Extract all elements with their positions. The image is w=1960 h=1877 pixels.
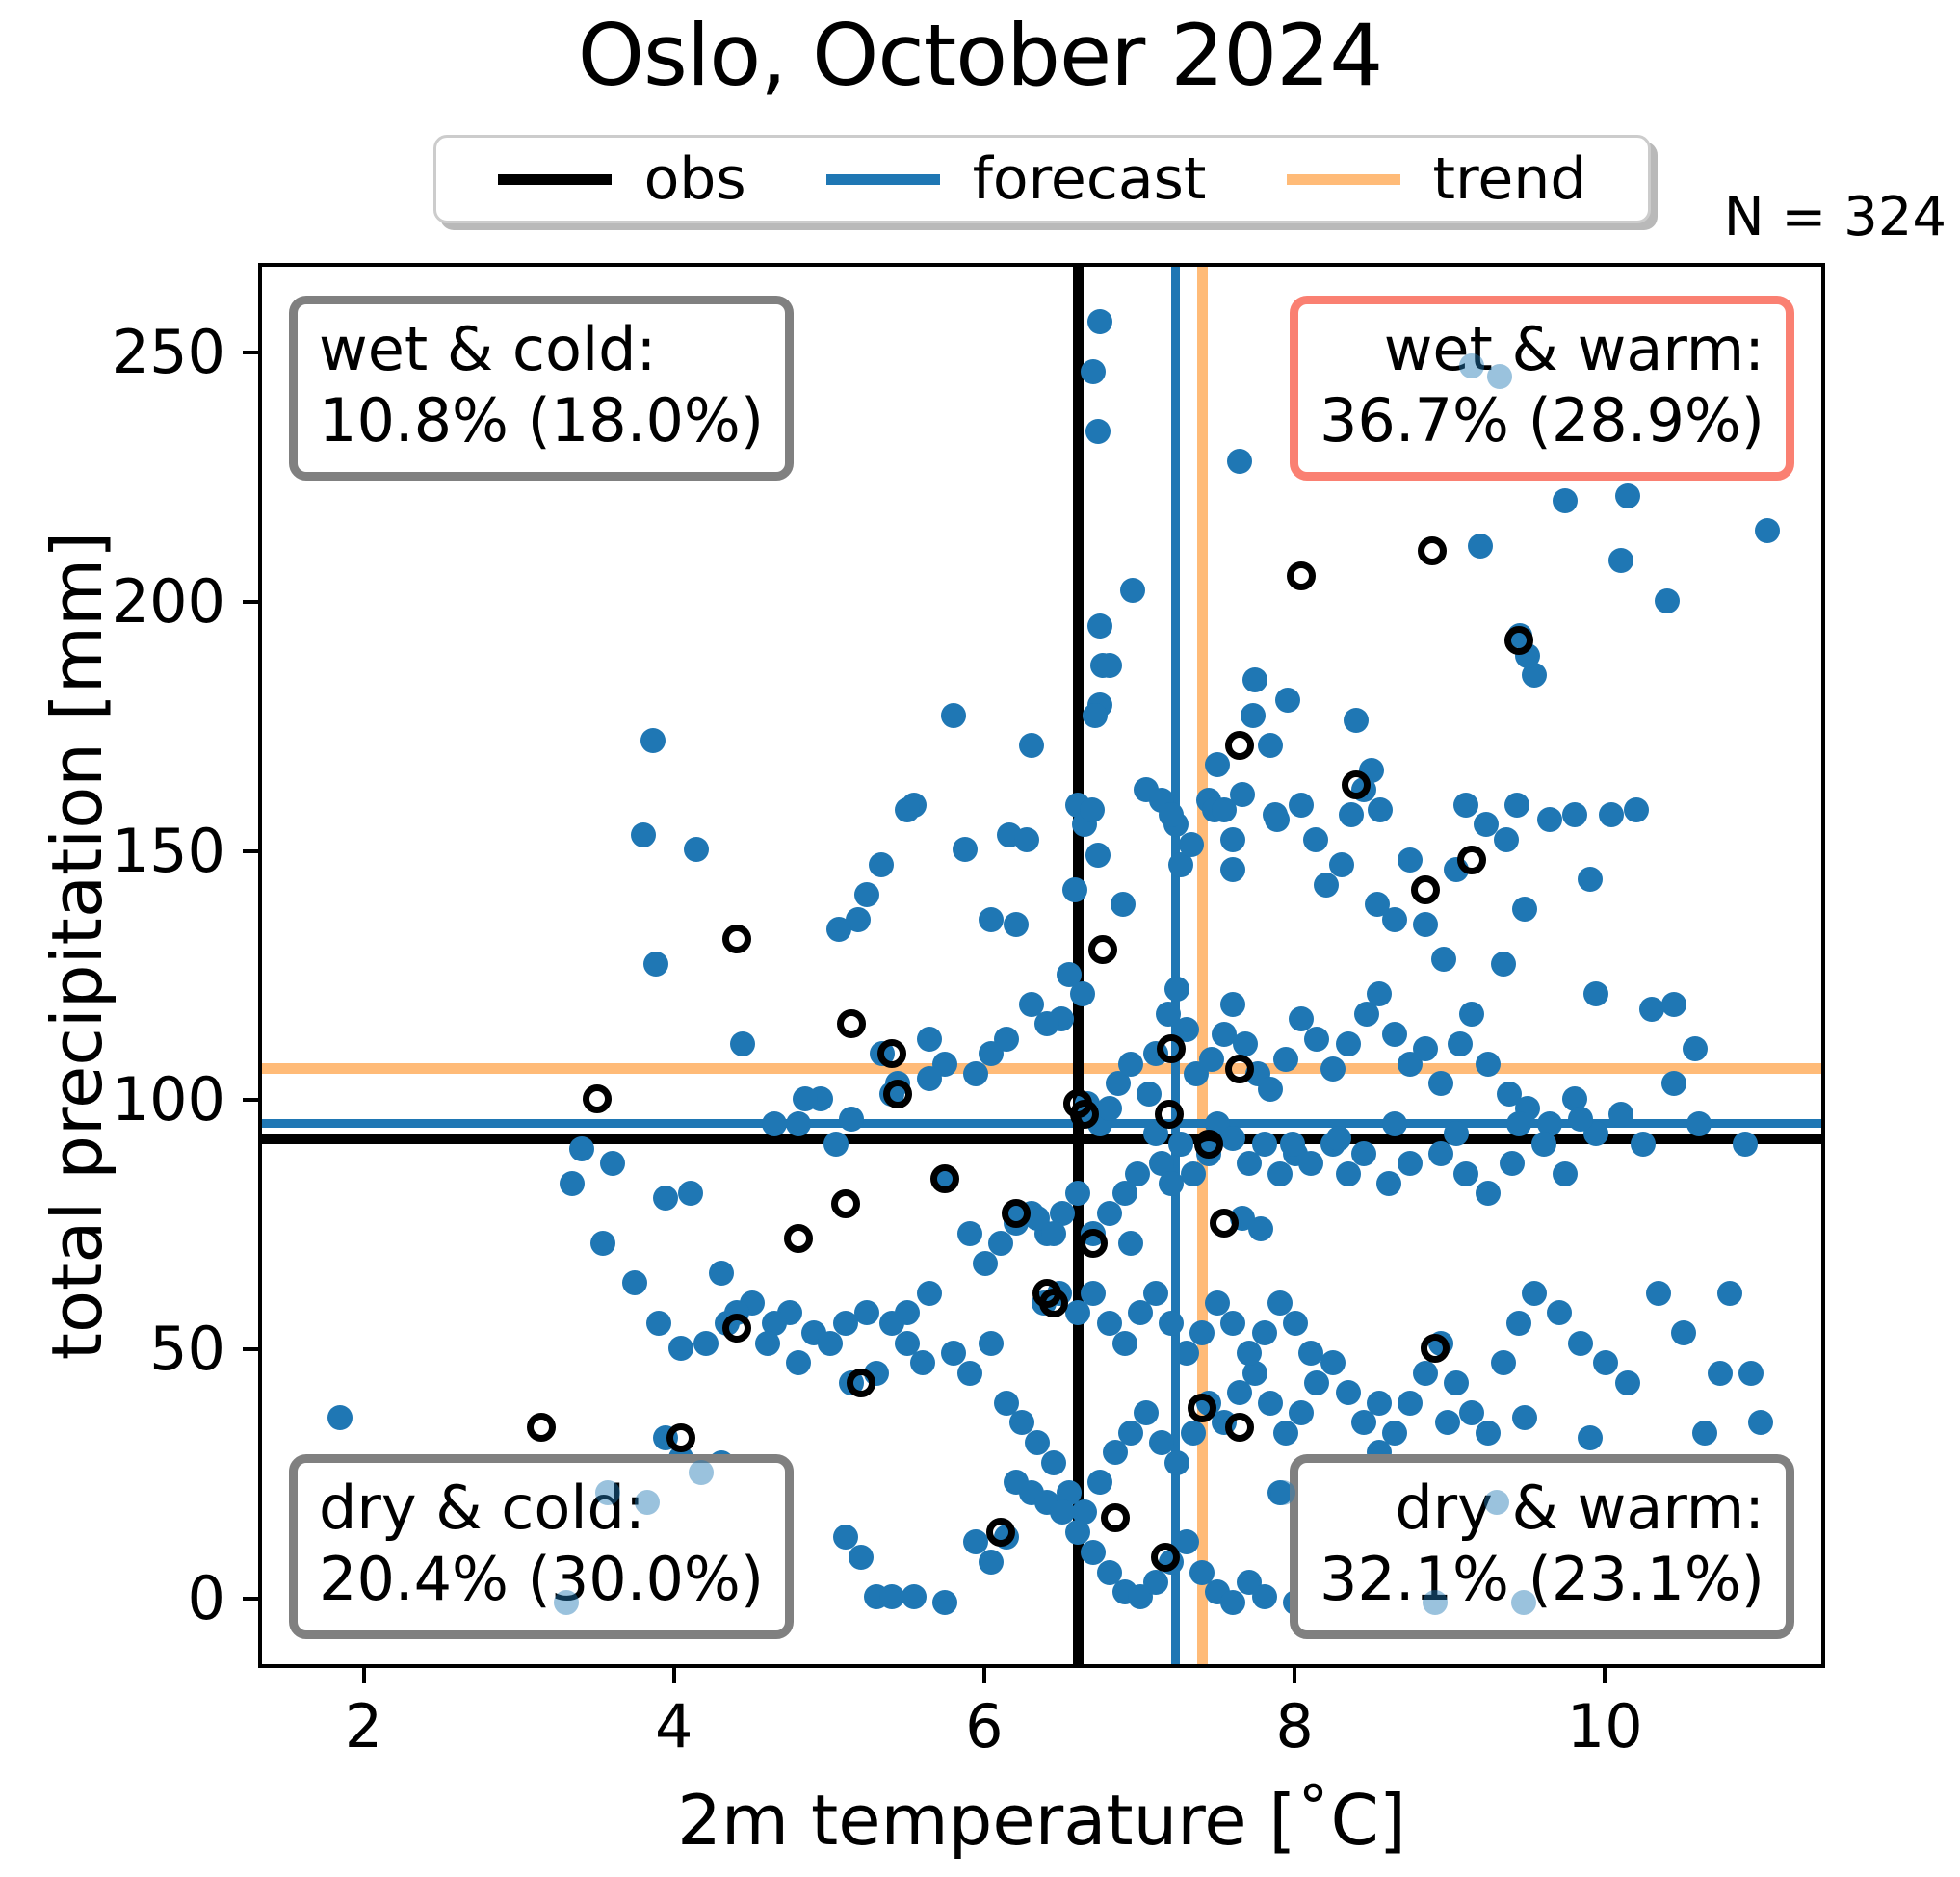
scatter-point-forecast xyxy=(1179,832,1204,857)
scatter-point-overlay xyxy=(689,1460,714,1485)
scatter-point-forecast xyxy=(1164,977,1189,1002)
scatter-point-forecast xyxy=(1267,1161,1293,1186)
annotation-wet-warm-value: 36.7% (28.9%) xyxy=(1320,385,1764,456)
x-tick-mark xyxy=(362,1668,366,1683)
scatter-point-forecast xyxy=(1085,843,1111,868)
annotation-dry-cold: dry & cold: 20.4% (30.0%) xyxy=(289,1454,794,1639)
scatter-point-forecast xyxy=(1159,1311,1184,1336)
scatter-point-forecast xyxy=(1512,897,1537,922)
scatter-point-forecast xyxy=(1661,1071,1686,1096)
scatter-point-obs xyxy=(883,1080,912,1108)
scatter-point-forecast xyxy=(1081,359,1106,384)
scatter-point-overlay xyxy=(1423,1590,1448,1615)
x-tick-label: 8 xyxy=(1275,1693,1313,1760)
scatter-point-forecast xyxy=(640,728,666,753)
scatter-point-overlay xyxy=(1487,364,1512,389)
scatter-point-obs xyxy=(1287,561,1316,590)
scatter-point-forecast xyxy=(957,1361,982,1386)
scatter-point-forecast xyxy=(1382,1421,1407,1446)
scatter-point-forecast xyxy=(1181,1161,1206,1186)
scatter-point-forecast xyxy=(1708,1361,1733,1386)
scatter-point-forecast xyxy=(1242,667,1267,692)
scatter-point-forecast xyxy=(786,1111,811,1136)
scatter-point-forecast xyxy=(957,1221,982,1246)
scatter-point-forecast xyxy=(1258,733,1283,758)
scatter-point-forecast xyxy=(1738,1361,1764,1386)
scatter-point-forecast xyxy=(1118,1231,1143,1256)
legend-entry-obs[interactable]: obs xyxy=(498,148,746,210)
legend-line-swatch-trend xyxy=(1287,174,1400,185)
scatter-point-forecast xyxy=(1522,1281,1547,1306)
scatter-point-forecast xyxy=(1041,1221,1066,1246)
scatter-point-obs xyxy=(1157,1034,1186,1063)
page-title: Oslo, October 2024 xyxy=(0,8,1960,104)
scatter-point-forecast xyxy=(1189,1320,1215,1345)
scatter-point-obs xyxy=(1411,875,1440,904)
scatter-point-forecast xyxy=(1258,1077,1283,1102)
scatter-point-obs xyxy=(722,1314,751,1343)
scatter-point-forecast xyxy=(1553,1161,1578,1186)
scatter-point-obs xyxy=(1194,1130,1223,1159)
scatter-point-forecast xyxy=(590,1231,615,1256)
scatter-point-forecast xyxy=(1134,1400,1159,1425)
y-tick-mark xyxy=(243,1347,258,1351)
scatter-point-forecast xyxy=(600,1151,625,1176)
x-tick-label: 6 xyxy=(965,1693,1003,1760)
scatter-point-obs xyxy=(1225,1055,1254,1083)
scatter-point-overlay xyxy=(595,1480,620,1505)
scatter-point-obs xyxy=(1225,731,1254,760)
x-tick-label: 10 xyxy=(1567,1693,1643,1760)
scatter-point-forecast xyxy=(1118,1421,1143,1446)
legend-line-swatch-obs xyxy=(498,174,612,185)
scatter-point-forecast xyxy=(1593,1350,1618,1375)
scatter-point-forecast xyxy=(1220,827,1245,852)
scatter-point-forecast xyxy=(1336,1161,1361,1186)
scatter-point-forecast xyxy=(1624,797,1649,822)
scatter-point-forecast xyxy=(1280,1132,1305,1157)
scatter-point-forecast xyxy=(1085,419,1111,444)
scatter-point-forecast xyxy=(1289,793,1314,818)
scatter-point-obs xyxy=(1504,626,1533,655)
scatter-point-forecast xyxy=(1112,1331,1137,1356)
plot-area: wet & cold: 10.8% (18.0%) wet & warm: 36… xyxy=(258,263,1825,1668)
scatter-point-forecast xyxy=(1491,952,1516,977)
legend-entry-forecast[interactable]: forecast xyxy=(826,148,1207,210)
scatter-point-forecast xyxy=(1014,827,1039,852)
scatter-point-forecast xyxy=(1398,847,1423,873)
scatter-point-forecast xyxy=(854,882,879,907)
x-tick-mark xyxy=(982,1668,986,1683)
y-axis-label: total precipitation [mm] xyxy=(37,233,118,1658)
scatter-point-forecast xyxy=(917,1066,942,1091)
y-tick-mark xyxy=(243,600,258,604)
scatter-point-obs xyxy=(1101,1503,1130,1532)
annotation-wet-warm: wet & warm: 36.7% (28.9%) xyxy=(1290,296,1794,481)
scatter-point-forecast xyxy=(895,797,920,822)
scatter-point-forecast xyxy=(932,1590,957,1615)
scatter-point-forecast xyxy=(1097,1096,1122,1121)
y-tick-mark xyxy=(243,1098,258,1102)
scatter-point-forecast xyxy=(622,1270,647,1295)
scatter-point-forecast xyxy=(1444,1121,1469,1146)
scatter-point-obs xyxy=(1418,536,1447,565)
scatter-point-obs xyxy=(1039,1289,1068,1317)
scatter-point-obs xyxy=(837,1009,866,1038)
scatter-point-forecast xyxy=(1500,1151,1525,1176)
scatter-point-forecast xyxy=(684,837,709,862)
scatter-point-forecast xyxy=(1494,827,1519,852)
scatter-point-overlay xyxy=(635,1490,660,1515)
annotation-wet-cold: wet & cold: 10.8% (18.0%) xyxy=(289,296,794,481)
scatter-point-forecast xyxy=(1459,1002,1484,1027)
scatter-point-forecast xyxy=(1205,752,1230,777)
scatter-point-obs xyxy=(1342,770,1371,799)
x-tick-mark xyxy=(1603,1668,1607,1683)
scatter-point-forecast xyxy=(1065,1300,1090,1325)
scatter-point-forecast xyxy=(1220,857,1245,882)
scatter-point-forecast xyxy=(1103,1440,1128,1465)
scatter-point-forecast xyxy=(1568,1331,1593,1356)
scatter-point-forecast xyxy=(1289,1400,1314,1425)
scatter-point-forecast xyxy=(1004,912,1029,937)
scatter-point-forecast xyxy=(678,1181,703,1206)
scatter-point-forecast xyxy=(1531,1132,1556,1157)
scatter-point-forecast xyxy=(1476,1181,1501,1206)
scatter-point-forecast xyxy=(1448,1031,1473,1056)
y-tick-mark xyxy=(243,849,258,853)
scatter-point-obs xyxy=(527,1413,556,1442)
scatter-point-forecast xyxy=(1087,1470,1112,1495)
scatter-point-forecast xyxy=(1019,992,1044,1017)
scatter-point-forecast xyxy=(762,1111,787,1136)
scatter-point-forecast xyxy=(1717,1281,1742,1306)
scatter-point-forecast xyxy=(786,1350,811,1375)
scatter-point-forecast xyxy=(1168,1132,1193,1157)
scatter-point-forecast xyxy=(823,1132,849,1157)
scatter-point-forecast xyxy=(1367,1391,1392,1416)
scatter-point-forecast xyxy=(1547,1300,1572,1325)
x-tick-mark xyxy=(1293,1668,1296,1683)
scatter-point-forecast xyxy=(1413,1036,1438,1061)
scatter-point-obs xyxy=(847,1369,875,1397)
scatter-point-forecast xyxy=(1562,802,1587,827)
scatter-point-forecast xyxy=(1174,1341,1199,1366)
chart-figure: Oslo, October 2024 obs forecast trend N … xyxy=(0,0,1960,1877)
scatter-point-forecast xyxy=(1599,802,1624,827)
scatter-point-obs xyxy=(722,925,751,953)
scatter-point-forecast xyxy=(1273,1421,1298,1446)
scatter-point-forecast xyxy=(1336,1380,1361,1405)
scatter-point-forecast xyxy=(1444,1370,1469,1395)
scatter-point-forecast xyxy=(1506,1111,1531,1136)
scatter-point-forecast xyxy=(1413,912,1438,937)
scatter-point-forecast xyxy=(869,852,894,877)
scatter-point-forecast xyxy=(1683,1036,1708,1061)
scatter-point-forecast xyxy=(854,1300,879,1325)
scatter-point-forecast xyxy=(1159,802,1184,827)
scatter-point-forecast xyxy=(1368,797,1393,822)
scatter-point-forecast xyxy=(1034,1011,1059,1036)
scatter-point-overlay xyxy=(1511,1590,1536,1615)
scatter-point-obs xyxy=(666,1423,695,1452)
scatter-point-forecast xyxy=(973,1251,998,1276)
scatter-point-forecast xyxy=(1431,947,1456,972)
vline-trend xyxy=(1197,263,1208,1668)
scatter-point-forecast xyxy=(730,1031,755,1056)
scatter-point-forecast xyxy=(1275,688,1300,713)
scatter-point-forecast xyxy=(1476,1421,1501,1446)
scatter-point-forecast xyxy=(1220,992,1245,1017)
scatter-point-forecast xyxy=(1087,613,1112,639)
scatter-point-forecast xyxy=(1220,1590,1245,1615)
legend-label-trend: trend xyxy=(1433,148,1587,210)
x-tick-label: 2 xyxy=(345,1693,382,1760)
scatter-point-forecast xyxy=(1553,488,1578,513)
scatter-point-forecast xyxy=(1273,1047,1298,1072)
scatter-point-forecast xyxy=(941,703,966,728)
scatter-point-forecast xyxy=(1220,1126,1245,1151)
scatter-point-forecast xyxy=(1070,981,1095,1006)
annotation-dry-warm: dry & warm: 32.1% (23.1%) xyxy=(1290,1454,1794,1639)
scatter-point-forecast xyxy=(1258,1391,1283,1416)
scatter-point-forecast xyxy=(1252,1132,1277,1157)
scatter-point-forecast xyxy=(793,1086,818,1111)
scatter-point-forecast xyxy=(709,1261,734,1286)
scatter-point-forecast xyxy=(560,1171,585,1196)
scatter-point-forecast xyxy=(1181,1421,1206,1446)
scatter-point-forecast xyxy=(1303,827,1328,852)
scatter-point-forecast xyxy=(668,1336,693,1361)
scatter-point-forecast xyxy=(917,1281,942,1306)
scatter-point-overlay xyxy=(1459,353,1484,378)
scatter-point-forecast xyxy=(1241,703,1266,728)
scatter-point-forecast xyxy=(979,907,1004,932)
scatter-point-overlay xyxy=(1484,1490,1509,1515)
scatter-point-forecast xyxy=(979,1550,1004,1575)
scatter-point-forecast xyxy=(1583,981,1608,1006)
scatter-point-forecast xyxy=(1608,548,1633,573)
scatter-point-forecast xyxy=(1326,1126,1351,1151)
scatter-point-forecast xyxy=(1435,1410,1460,1435)
scatter-point-obs xyxy=(1457,846,1486,874)
scatter-point-forecast xyxy=(1382,1111,1407,1136)
scatter-point-forecast xyxy=(1143,1281,1168,1306)
scatter-point-forecast xyxy=(1304,1370,1329,1395)
scatter-point-forecast xyxy=(1351,1141,1376,1166)
scatter-point-forecast xyxy=(1413,1361,1438,1386)
scatter-point-obs xyxy=(583,1084,612,1113)
scatter-point-forecast xyxy=(1164,1450,1189,1475)
scatter-point-obs xyxy=(1155,1100,1184,1129)
scatter-point-forecast xyxy=(1019,733,1044,758)
scatter-point-forecast xyxy=(1120,578,1145,603)
scatter-point-obs xyxy=(1188,1394,1216,1422)
scatter-point-forecast xyxy=(631,822,656,847)
scatter-point-forecast xyxy=(1212,797,1237,822)
scatter-point-forecast xyxy=(1615,483,1640,508)
scatter-point-forecast xyxy=(1671,1320,1696,1345)
scatter-point-forecast xyxy=(1233,1031,1258,1056)
scatter-point-obs xyxy=(930,1164,959,1193)
scatter-point-obs xyxy=(1210,1209,1239,1238)
scatter-point-forecast xyxy=(849,1545,874,1570)
scatter-point-forecast xyxy=(1578,867,1603,892)
scatter-point-forecast xyxy=(1692,1421,1717,1446)
sample-size-label: N = 324 xyxy=(1724,189,1947,247)
scatter-point-obs xyxy=(1079,1229,1108,1258)
annotation-wet-cold-value: 10.8% (18.0%) xyxy=(319,385,764,456)
scatter-point-obs xyxy=(831,1189,860,1218)
scatter-point-forecast xyxy=(1220,1311,1245,1336)
legend-label-forecast: forecast xyxy=(973,148,1207,210)
scatter-point-forecast xyxy=(1578,1425,1603,1450)
annotation-dry-warm-heading: dry & warm: xyxy=(1320,1473,1764,1544)
scatter-point-forecast xyxy=(1087,309,1112,334)
scatter-point-forecast xyxy=(1468,534,1493,559)
scatter-point-obs xyxy=(1421,1334,1450,1363)
scatter-point-forecast xyxy=(1283,1311,1308,1336)
annotation-dry-warm-value: 32.1% (23.1%) xyxy=(1320,1544,1764,1615)
scatter-point-forecast xyxy=(1631,1132,1656,1157)
scatter-point-forecast xyxy=(1476,1052,1501,1077)
x-tick-label: 4 xyxy=(655,1693,693,1760)
scatter-point-forecast xyxy=(1661,992,1686,1017)
scatter-point-forecast xyxy=(1398,1151,1423,1176)
scatter-point-forecast xyxy=(1265,807,1290,832)
scatter-point-obs xyxy=(1088,935,1117,964)
scatter-point-forecast xyxy=(1118,1052,1143,1077)
scatter-point-forecast xyxy=(1655,588,1680,613)
scatter-point-obs xyxy=(986,1518,1015,1547)
scatter-point-forecast xyxy=(1237,1151,1262,1176)
scatter-point-forecast xyxy=(1320,1350,1346,1375)
legend-entry-trend[interactable]: trend xyxy=(1287,148,1587,210)
scatter-point-forecast xyxy=(1304,1027,1329,1052)
scatter-point-forecast xyxy=(1351,1410,1376,1435)
scatter-point-forecast xyxy=(1252,1584,1277,1609)
scatter-point-forecast xyxy=(1111,892,1136,917)
legend-line-swatch-forecast xyxy=(826,174,940,185)
legend-label-obs: obs xyxy=(644,148,746,210)
scatter-point-forecast xyxy=(1298,1341,1323,1366)
scatter-point-forecast xyxy=(1748,1410,1773,1435)
scatter-point-forecast xyxy=(1428,1141,1453,1166)
scatter-point-forecast xyxy=(653,1186,678,1211)
scatter-point-forecast xyxy=(1491,1350,1516,1375)
scatter-point-forecast xyxy=(646,1311,671,1336)
scatter-point-obs xyxy=(784,1224,813,1253)
scatter-point-forecast xyxy=(917,1027,942,1052)
scatter-point-forecast xyxy=(1080,797,1105,822)
scatter-point-forecast xyxy=(979,1331,1004,1356)
scatter-point-forecast xyxy=(1097,653,1122,678)
y-tick-mark xyxy=(243,351,258,354)
scatter-point-obs xyxy=(1225,1413,1254,1442)
scatter-point-forecast xyxy=(910,1350,935,1375)
scatter-point-forecast xyxy=(818,1331,843,1356)
scatter-point-forecast xyxy=(1376,1171,1401,1196)
scatter-point-forecast xyxy=(1615,1370,1640,1395)
scatter-point-forecast xyxy=(1512,1405,1537,1430)
scatter-point-forecast xyxy=(327,1405,353,1430)
scatter-point-forecast xyxy=(1083,703,1108,728)
scatter-point-obs xyxy=(877,1039,906,1068)
scatter-point-obs xyxy=(1070,1100,1099,1129)
scatter-point-forecast xyxy=(1733,1132,1758,1157)
x-axis-label: 2m temperature [˚C] xyxy=(258,1780,1825,1861)
scatter-point-obs xyxy=(1151,1543,1180,1572)
scatter-point-forecast xyxy=(1339,802,1364,827)
scatter-point-forecast xyxy=(1199,1047,1224,1072)
scatter-point-forecast xyxy=(1608,1102,1633,1127)
scatter-point-forecast xyxy=(1568,1107,1593,1132)
scatter-point-forecast xyxy=(1320,1056,1346,1082)
scatter-point-forecast xyxy=(1227,449,1252,474)
scatter-point-forecast xyxy=(1453,793,1478,818)
chart-legend: obs forecast trend xyxy=(433,135,1651,223)
scatter-point-forecast xyxy=(1314,873,1339,898)
scatter-point-forecast xyxy=(1041,1450,1066,1475)
annotation-wet-warm-heading: wet & warm: xyxy=(1320,314,1764,385)
scatter-point-forecast xyxy=(693,1331,719,1356)
x-tick-mark xyxy=(672,1668,676,1683)
scatter-point-forecast xyxy=(1382,1022,1407,1047)
scatter-point-forecast xyxy=(755,1331,780,1356)
scatter-point-forecast xyxy=(1755,518,1780,543)
scatter-point-forecast xyxy=(1143,1570,1168,1595)
scatter-point-forecast xyxy=(1081,1281,1106,1306)
scatter-point-forecast xyxy=(1537,807,1562,832)
scatter-point-forecast xyxy=(1329,852,1354,877)
scatter-point-forecast xyxy=(1646,1281,1671,1306)
scatter-point-overlay xyxy=(1270,1480,1295,1505)
scatter-point-forecast xyxy=(1686,1111,1712,1136)
scatter-point-forecast xyxy=(569,1136,594,1161)
y-tick-mark xyxy=(243,1597,258,1601)
scatter-point-forecast xyxy=(902,1584,927,1609)
scatter-point-forecast xyxy=(826,917,851,942)
scatter-point-forecast xyxy=(1237,1341,1262,1366)
scatter-point-obs xyxy=(1002,1199,1031,1228)
scatter-point-forecast xyxy=(953,837,978,862)
scatter-point-forecast xyxy=(1398,1391,1423,1416)
scatter-point-forecast xyxy=(1298,1151,1323,1176)
scatter-point-forecast xyxy=(963,1061,988,1086)
scatter-point-overlay xyxy=(554,1590,579,1615)
scatter-point-forecast xyxy=(1344,708,1369,733)
scatter-point-forecast xyxy=(1382,907,1407,932)
scatter-point-forecast xyxy=(1062,877,1087,902)
scatter-point-forecast xyxy=(1453,1161,1478,1186)
scatter-point-forecast xyxy=(1504,793,1529,818)
scatter-point-forecast xyxy=(1137,1082,1162,1107)
scatter-point-forecast xyxy=(1227,1380,1252,1405)
scatter-point-forecast xyxy=(1506,1311,1531,1336)
scatter-point-forecast xyxy=(1128,1300,1153,1325)
scatter-point-forecast xyxy=(1252,1320,1277,1345)
annotation-dry-cold-value: 20.4% (30.0%) xyxy=(319,1544,764,1615)
scatter-point-forecast xyxy=(1428,1071,1453,1096)
scatter-point-forecast xyxy=(1336,1031,1361,1056)
hline-trend xyxy=(258,1063,1825,1074)
scatter-point-forecast xyxy=(839,1107,864,1132)
scatter-point-forecast xyxy=(1367,981,1392,1006)
annotation-wet-cold-heading: wet & cold: xyxy=(319,314,764,385)
scatter-point-forecast xyxy=(643,952,668,977)
